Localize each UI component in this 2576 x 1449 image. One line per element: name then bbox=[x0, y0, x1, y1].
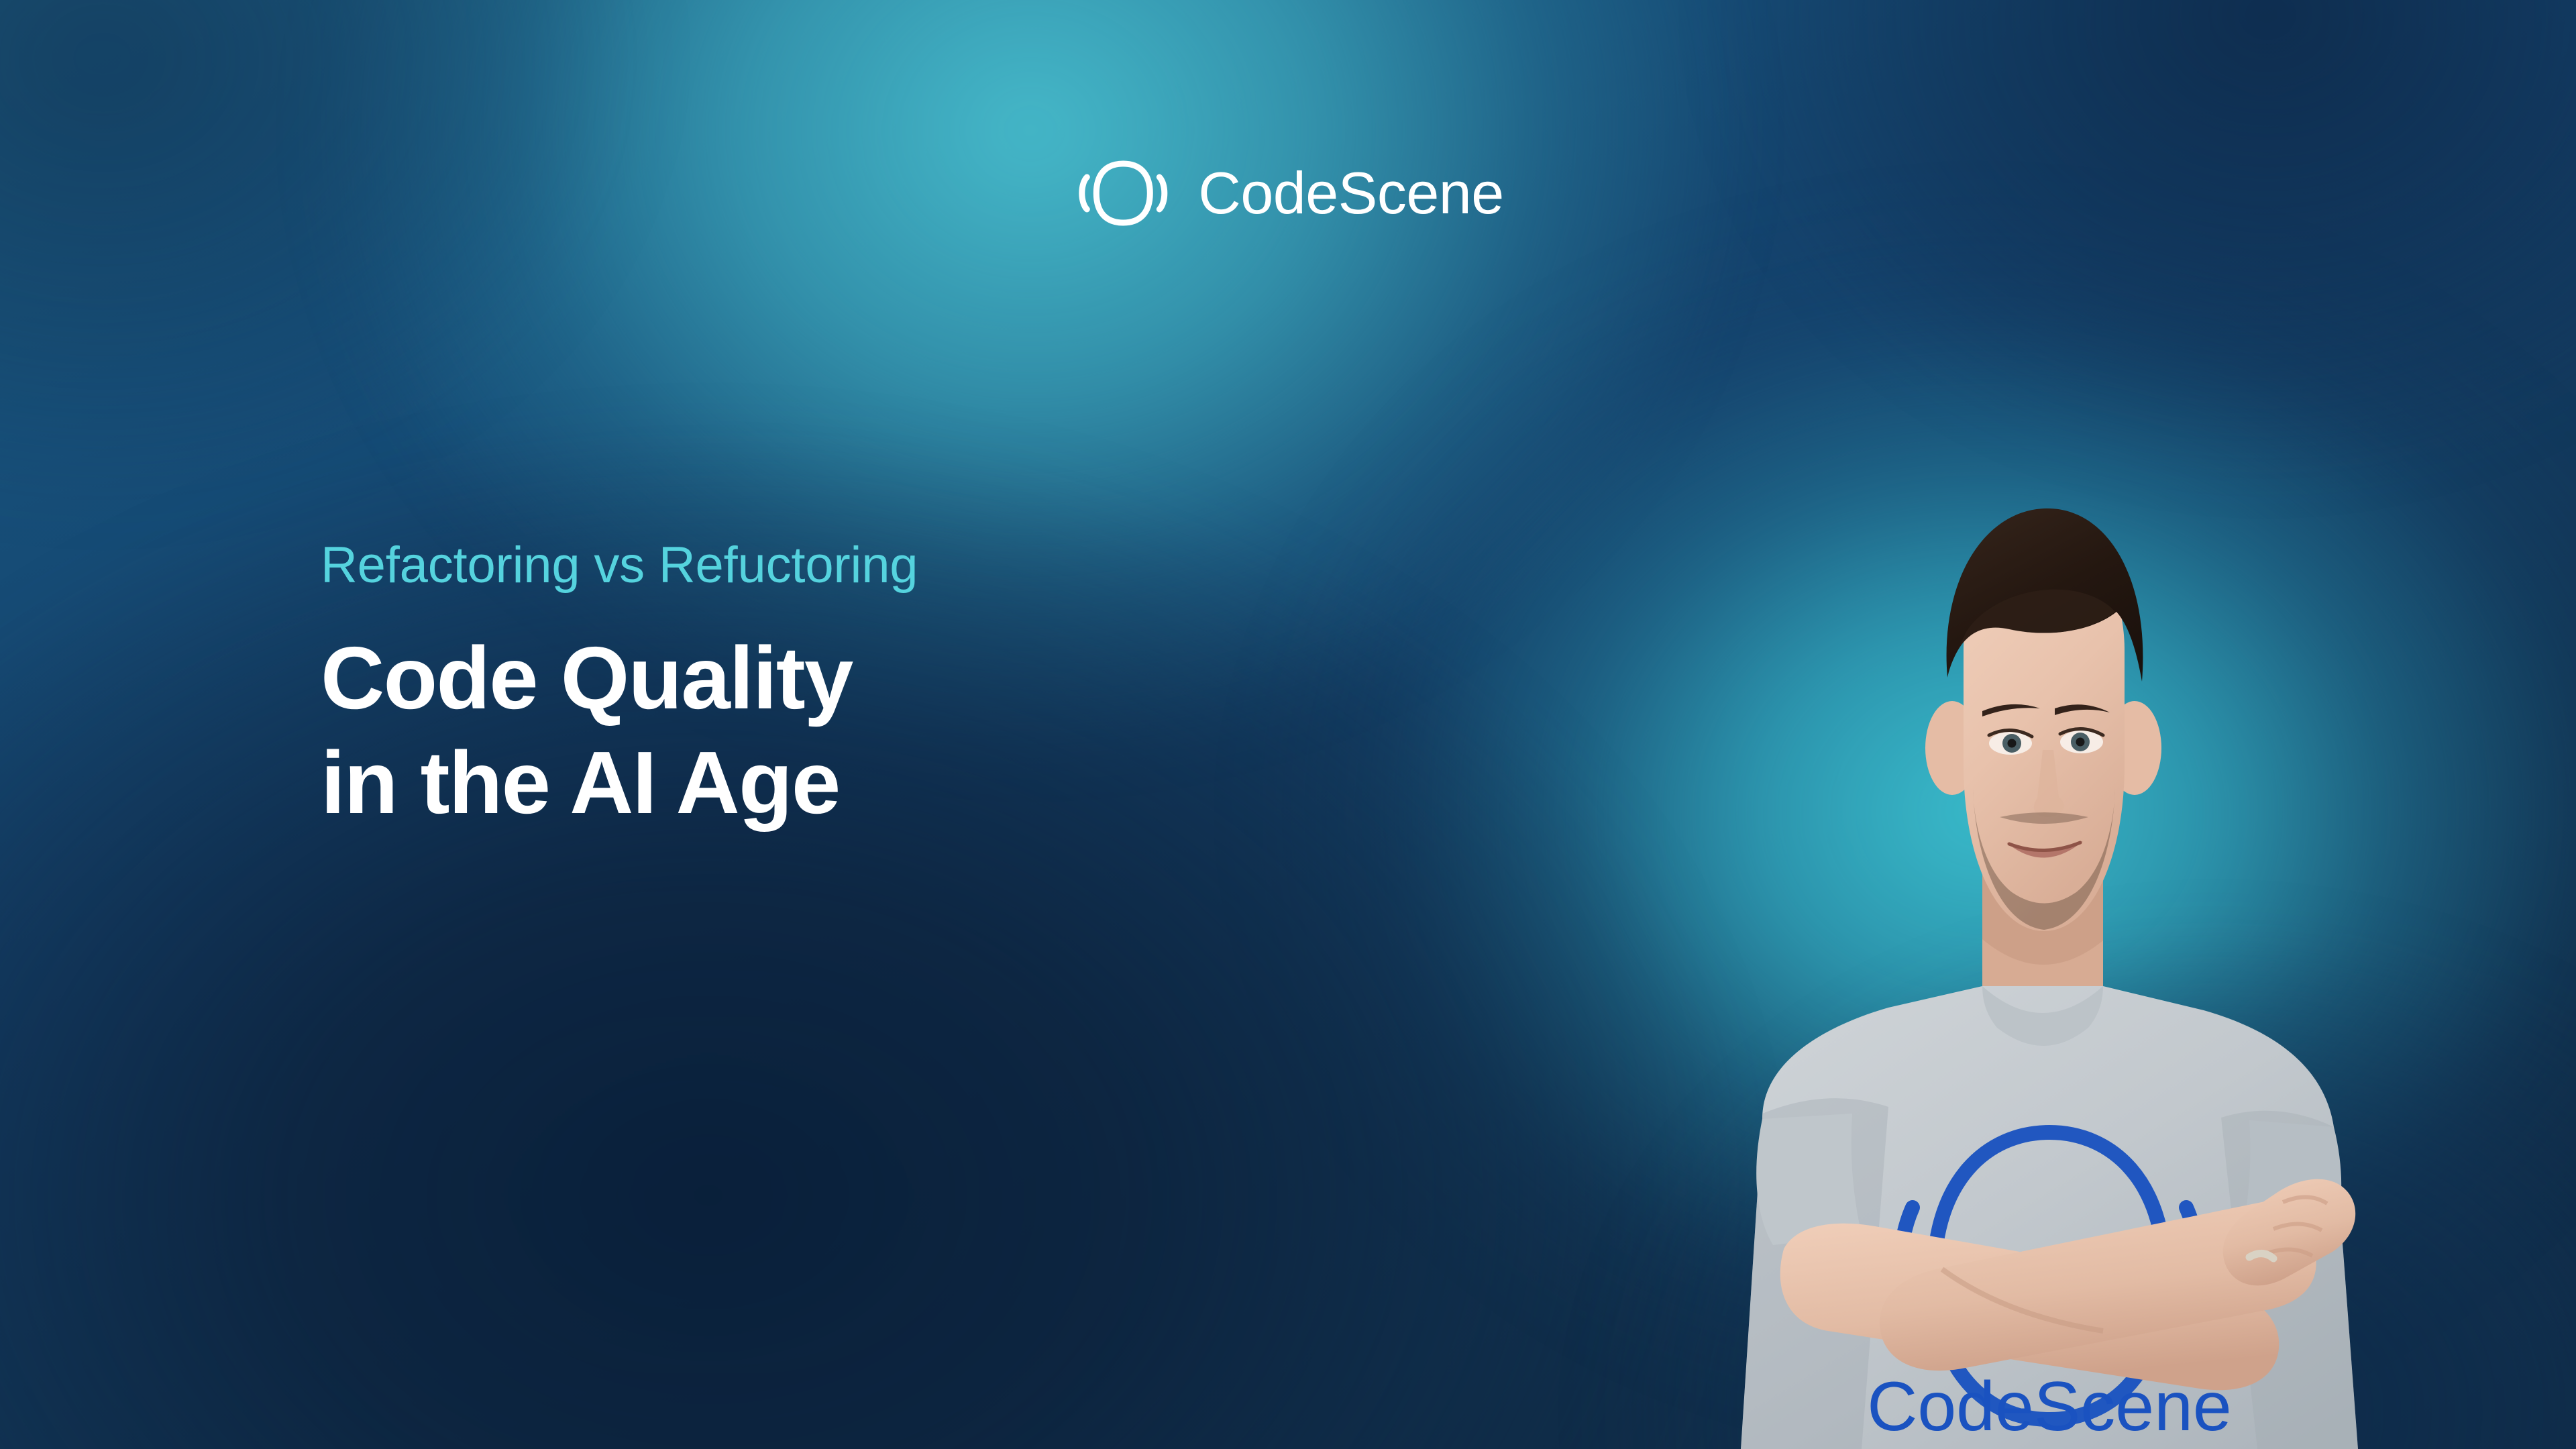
eye-right bbox=[2060, 729, 2103, 753]
speaker-portrait: CodeScene bbox=[1513, 362, 2398, 1449]
title-text-block: Refactoring vs Refuctoring Code Quality … bbox=[321, 537, 918, 835]
page-title-line-2: in the AI Age bbox=[321, 731, 918, 835]
codescene-squircle-icon bbox=[1072, 156, 1174, 231]
codescene-wordmark: CodeScene bbox=[1198, 164, 1503, 223]
page-title-line-1: Code Quality bbox=[321, 626, 918, 731]
eye-left bbox=[1989, 730, 2032, 755]
eyebrow-text: Refactoring vs Refuctoring bbox=[321, 537, 918, 594]
page-title: Code Quality in the AI Age bbox=[321, 626, 918, 835]
codescene-logo-lockup[interactable]: CodeScene bbox=[1072, 156, 1503, 231]
title-slide: CodeScene bbox=[0, 0, 2576, 1449]
